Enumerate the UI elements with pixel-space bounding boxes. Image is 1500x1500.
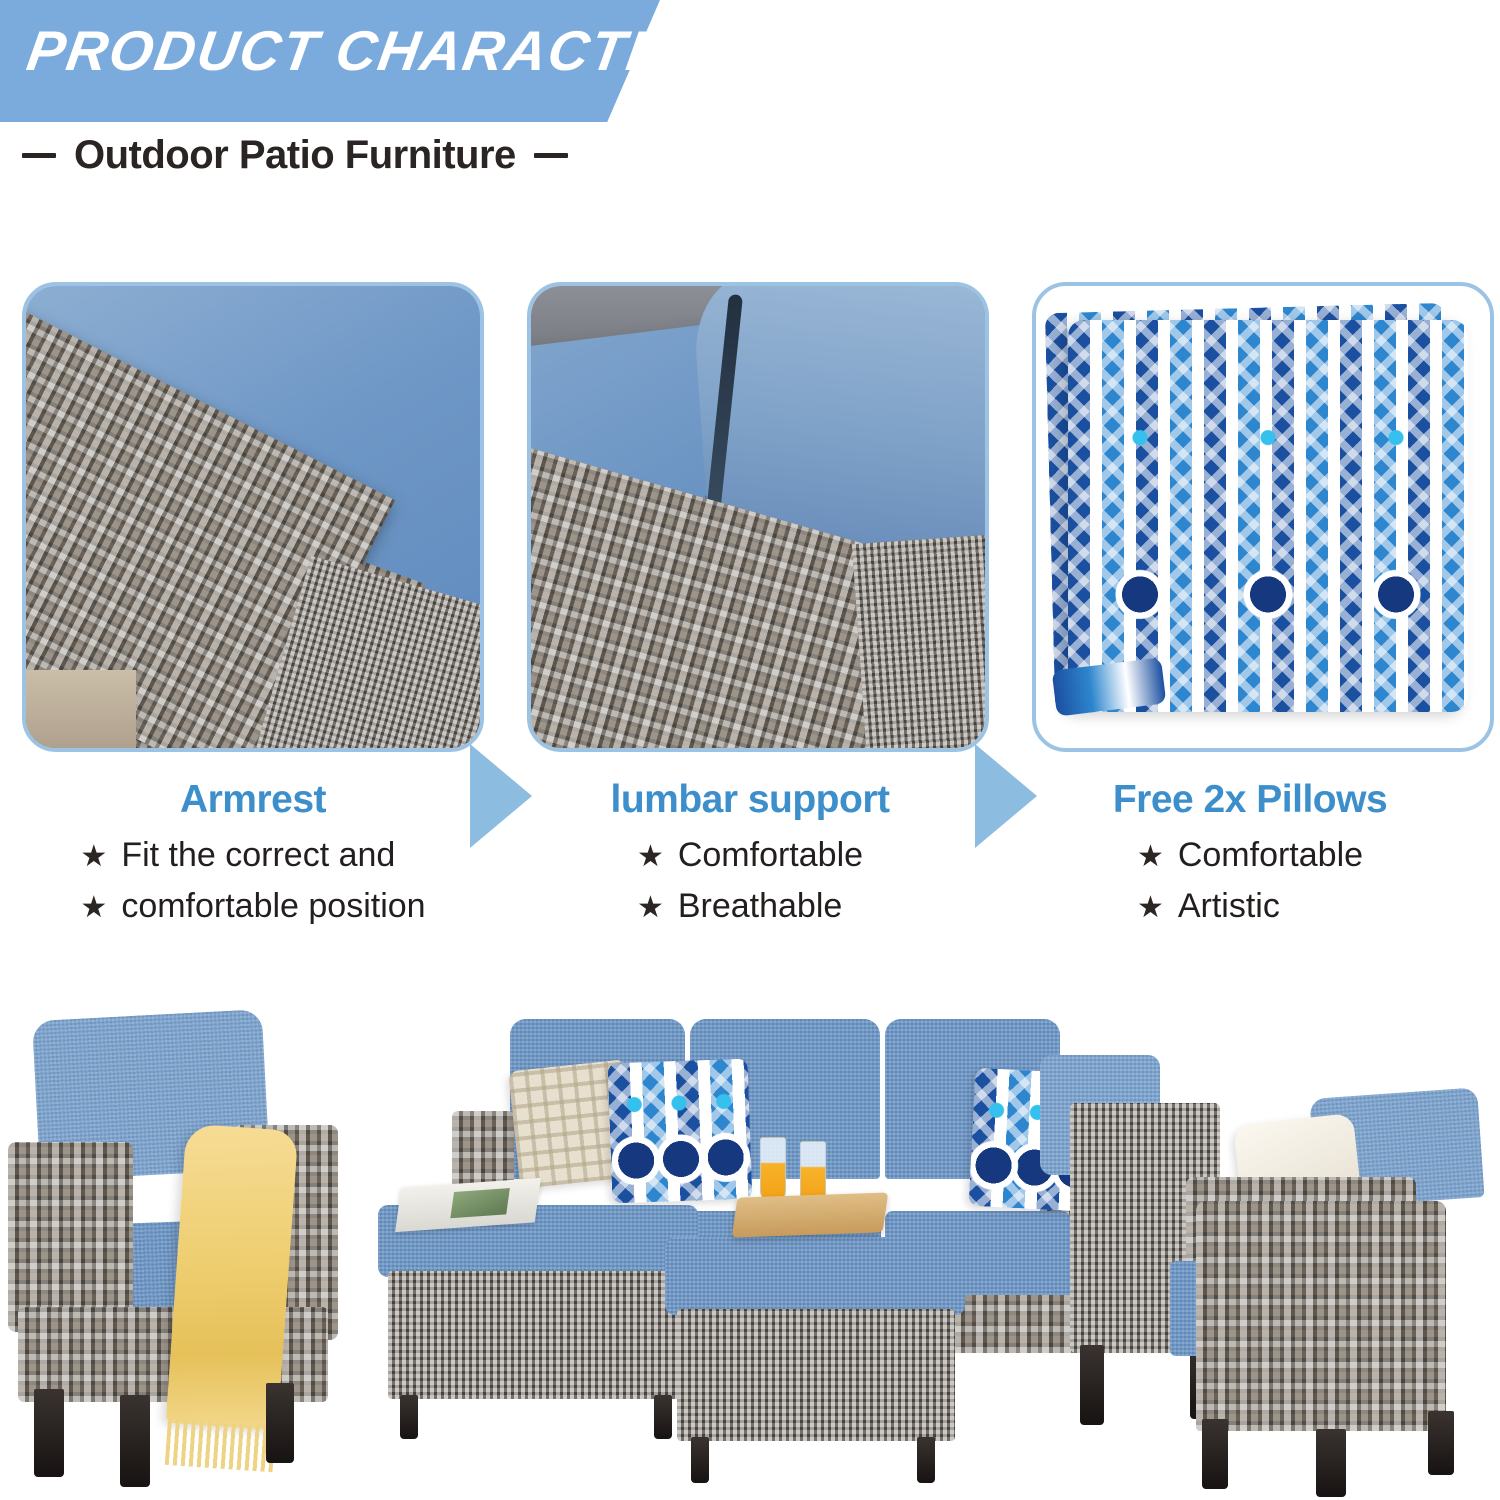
wooden-serving-tray bbox=[732, 1192, 888, 1237]
subtitle: Outdoor Patio Furniture bbox=[74, 133, 516, 178]
bullet-text: comfortable position bbox=[121, 887, 425, 926]
feature-panel-row bbox=[0, 282, 1500, 752]
feature-image-free-pillows bbox=[1032, 282, 1494, 752]
dash-right-icon bbox=[534, 153, 568, 158]
right-armchair-front bbox=[1128, 1081, 1490, 1485]
feature-title-armrest: Armrest bbox=[180, 778, 326, 822]
pillow-front bbox=[1068, 320, 1468, 712]
bullet-text: Artistic bbox=[1178, 887, 1280, 926]
ottoman-cushion bbox=[665, 1237, 965, 1315]
star-icon: ★ bbox=[80, 893, 107, 923]
furniture-leg bbox=[1080, 1345, 1104, 1425]
bullet-item: ★ Artistic bbox=[1137, 887, 1363, 926]
armchair-left-arm bbox=[8, 1142, 133, 1332]
bullet-item: ★ Comfortable bbox=[1137, 836, 1363, 875]
ottoman-with-tray bbox=[665, 1237, 965, 1472]
star-icon: ★ bbox=[1137, 893, 1164, 923]
furniture-leg bbox=[34, 1389, 64, 1477]
caption-lumbar-support: lumbar support ★ Comfortable ★ Breathabl… bbox=[500, 778, 1000, 926]
bullet-item: ★ Breathable bbox=[637, 887, 863, 926]
pillows-photo bbox=[1036, 286, 1490, 748]
lumbar-photo bbox=[531, 286, 985, 748]
caption-armrest: Armrest ★ Fit the correct and ★ comforta… bbox=[0, 778, 500, 926]
furniture-leg bbox=[400, 1395, 418, 1439]
feature-bullets-free-pillows: ★ Comfortable ★ Artistic bbox=[1137, 836, 1363, 926]
bullet-item: ★ comfortable position bbox=[80, 887, 425, 926]
star-icon: ★ bbox=[1137, 842, 1164, 872]
bullet-text: Comfortable bbox=[678, 836, 863, 875]
feature-title-lumbar-support: lumbar support bbox=[610, 778, 889, 822]
bullet-item: ★ Fit the correct and bbox=[80, 836, 425, 875]
furniture-leg bbox=[691, 1437, 709, 1483]
right-chair-near-arm bbox=[1196, 1201, 1446, 1431]
bullet-text: Comfortable bbox=[1178, 836, 1363, 875]
dash-left-icon bbox=[22, 153, 56, 158]
header-banner: PRODUCT CHARACTER bbox=[0, 0, 700, 122]
furniture-leg bbox=[1202, 1419, 1228, 1489]
page-title: PRODUCT CHARACTER bbox=[23, 18, 714, 83]
ottoman-base bbox=[388, 1271, 688, 1399]
feature-image-lumbar-support bbox=[527, 282, 989, 752]
subtitle-row: Outdoor Patio Furniture bbox=[22, 133, 568, 178]
ottoman-base bbox=[677, 1309, 955, 1441]
ground-patch bbox=[26, 670, 136, 748]
bullet-text: Fit the correct and bbox=[121, 836, 395, 875]
star-icon: ★ bbox=[637, 842, 664, 872]
left-armchair bbox=[8, 1007, 378, 1487]
bullet-text: Breathable bbox=[678, 887, 842, 926]
ikat-pillow-left bbox=[608, 1059, 753, 1204]
feature-title-free-pillows: Free 2x Pillows bbox=[1113, 778, 1387, 822]
feature-bullets-armrest: ★ Fit the correct and ★ comfortable posi… bbox=[80, 836, 425, 926]
furniture-leg bbox=[266, 1383, 294, 1463]
hero-product-photo bbox=[0, 985, 1500, 1500]
star-icon: ★ bbox=[637, 893, 664, 923]
furniture-leg bbox=[1316, 1429, 1346, 1497]
frame-right-weave bbox=[852, 528, 989, 752]
armrest-photo bbox=[26, 286, 480, 748]
furniture-leg bbox=[917, 1437, 935, 1483]
caption-free-pillows: Free 2x Pillows ★ Comfortable ★ Artistic bbox=[1000, 778, 1500, 926]
juice-glass bbox=[760, 1137, 786, 1203]
ottoman-with-magazine bbox=[378, 1205, 698, 1435]
feature-bullets-lumbar-support: ★ Comfortable ★ Breathable bbox=[637, 836, 863, 926]
furniture-leg bbox=[1428, 1411, 1454, 1475]
star-icon: ★ bbox=[80, 842, 107, 872]
furniture-leg bbox=[120, 1395, 150, 1487]
bullet-item: ★ Comfortable bbox=[637, 836, 863, 875]
feature-captions-row: Armrest ★ Fit the correct and ★ comforta… bbox=[0, 778, 1500, 926]
feature-image-armrest bbox=[22, 282, 484, 752]
